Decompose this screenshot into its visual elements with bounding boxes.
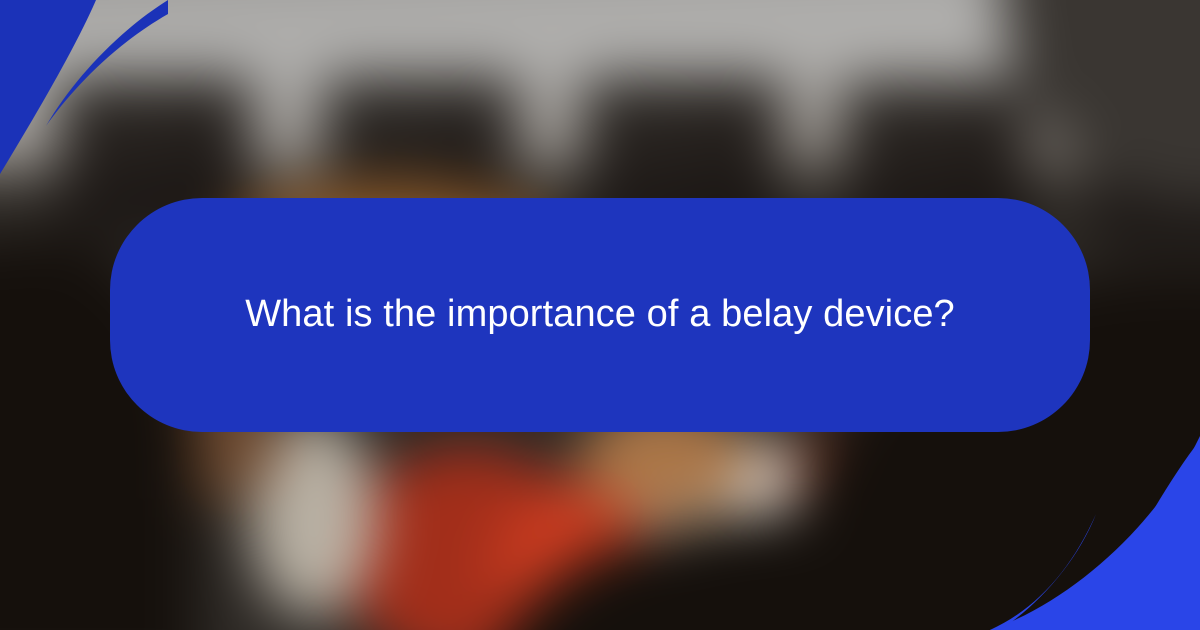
question-text: What is the importance of a belay device…: [245, 291, 955, 339]
top-left-blue-swoosh: [0, 0, 96, 174]
question-card: What is the importance of a belay device…: [110, 198, 1090, 432]
question-card-banner: What is the importance of a belay device…: [0, 0, 1200, 630]
bottom-right-blue-wedge: [990, 436, 1200, 630]
